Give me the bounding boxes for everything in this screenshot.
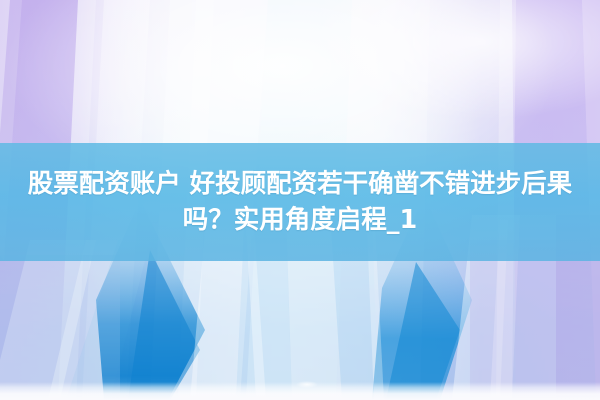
banner-title: 股票配资账户 好投顾配资若干确凿不错进步后果吗？实用角度启程_1 xyxy=(0,166,600,238)
banner-image: 股票配资账户 好投顾配资若干确凿不错进步后果吗？实用角度启程_1 xyxy=(0,0,600,400)
title-band: 股票配资账户 好投顾配资若干确凿不错进步后果吗？实用角度启程_1 xyxy=(0,143,600,261)
